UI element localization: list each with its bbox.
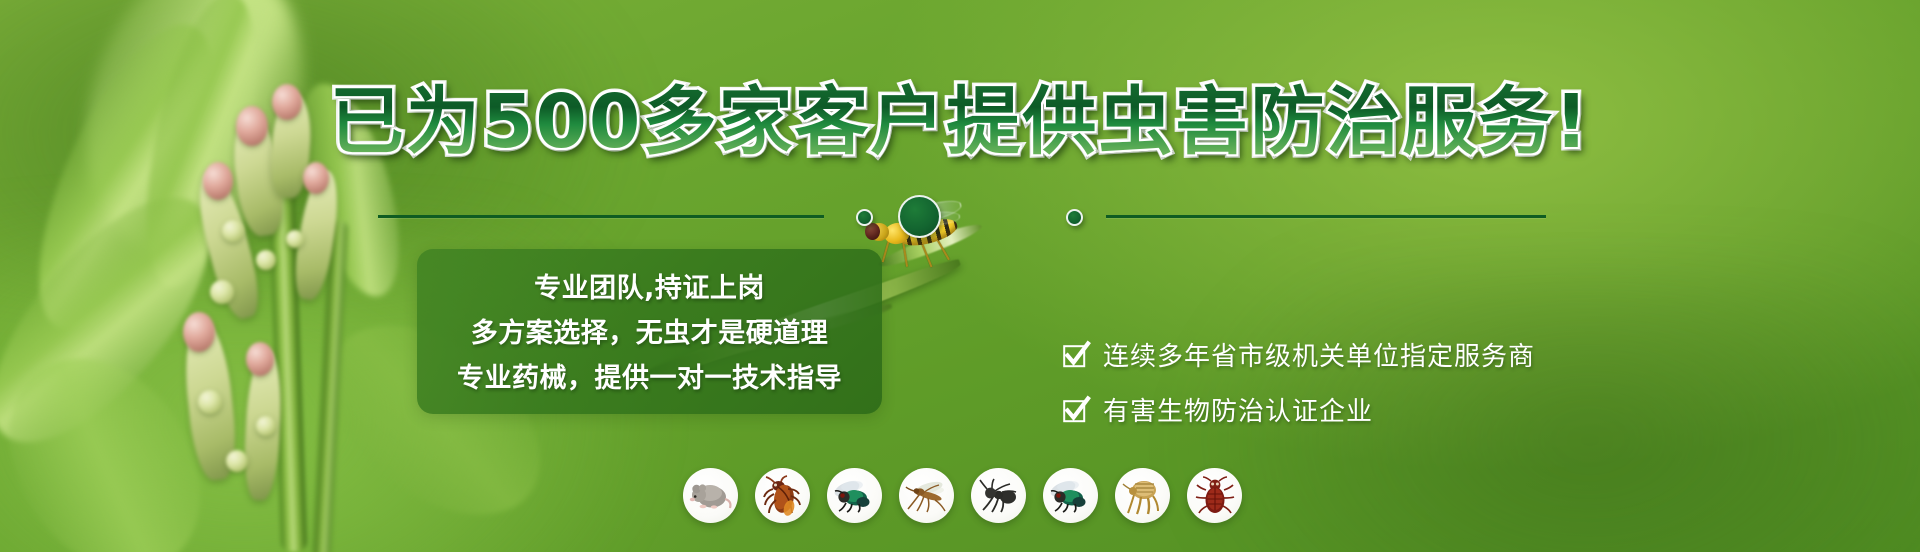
list-item-label: 有害生物防治认证企业 xyxy=(1103,391,1373,428)
plant-bud xyxy=(226,450,248,472)
plant-bud xyxy=(256,416,276,436)
fly-icon[interactable] xyxy=(1043,468,1098,523)
mosquito-icon[interactable] xyxy=(899,468,954,523)
plant-bud xyxy=(246,342,274,376)
page-title: 已为500多家客户提供虫害防治服务! xyxy=(0,62,1920,169)
mouse-icon[interactable] xyxy=(683,468,738,523)
divider-line-left xyxy=(378,215,824,218)
divider-dot-large xyxy=(898,195,941,238)
list-item: 连续多年省市级机关单位指定服务商 xyxy=(1063,336,1703,373)
bedbug-icon[interactable] xyxy=(1187,468,1242,523)
plant-bud xyxy=(256,250,276,270)
selling-point-line-1: 专业团队,持证上岗 xyxy=(534,266,765,305)
checkbox-check-icon xyxy=(1063,397,1089,423)
divider-line-right xyxy=(1106,215,1546,218)
promo-banner: 已为500多家客户提供虫害防治服务! 已为500多家客户提供虫害防治服务! 专业… xyxy=(0,0,1920,552)
divider-dot-small xyxy=(856,209,873,226)
selling-point-line-3: 专业药械，提供一对一技术指导 xyxy=(457,356,842,395)
decorative-divider xyxy=(0,196,1920,236)
insect-leg xyxy=(936,239,950,261)
plant-bud xyxy=(210,280,234,304)
fly-icon[interactable] xyxy=(827,468,882,523)
divider-dot-small xyxy=(1066,209,1083,226)
checkbox-check-icon xyxy=(1063,342,1089,368)
cockroach-icon[interactable] xyxy=(755,468,810,523)
selling-points-panel: 专业团队,持证上岗 多方案选择，无虫才是硬道理 专业药械，提供一对一技术指导 xyxy=(417,249,882,414)
plant-bud xyxy=(183,312,215,352)
ant-icon[interactable] xyxy=(971,468,1026,523)
list-item-label: 连续多年省市级机关单位指定服务商 xyxy=(1103,336,1535,373)
selling-point-line-2: 多方案选择，无虫才是硬道理 xyxy=(471,311,829,350)
list-item: 有害生物防治认证企业 xyxy=(1063,391,1703,428)
plant-bud xyxy=(198,390,222,414)
pest-type-icons xyxy=(683,468,1242,523)
insect-leg xyxy=(882,240,890,263)
flea-icon[interactable] xyxy=(1115,468,1170,523)
credentials-list: 连续多年省市级机关单位指定服务商 有害生物防治认证企业 xyxy=(1063,336,1703,446)
